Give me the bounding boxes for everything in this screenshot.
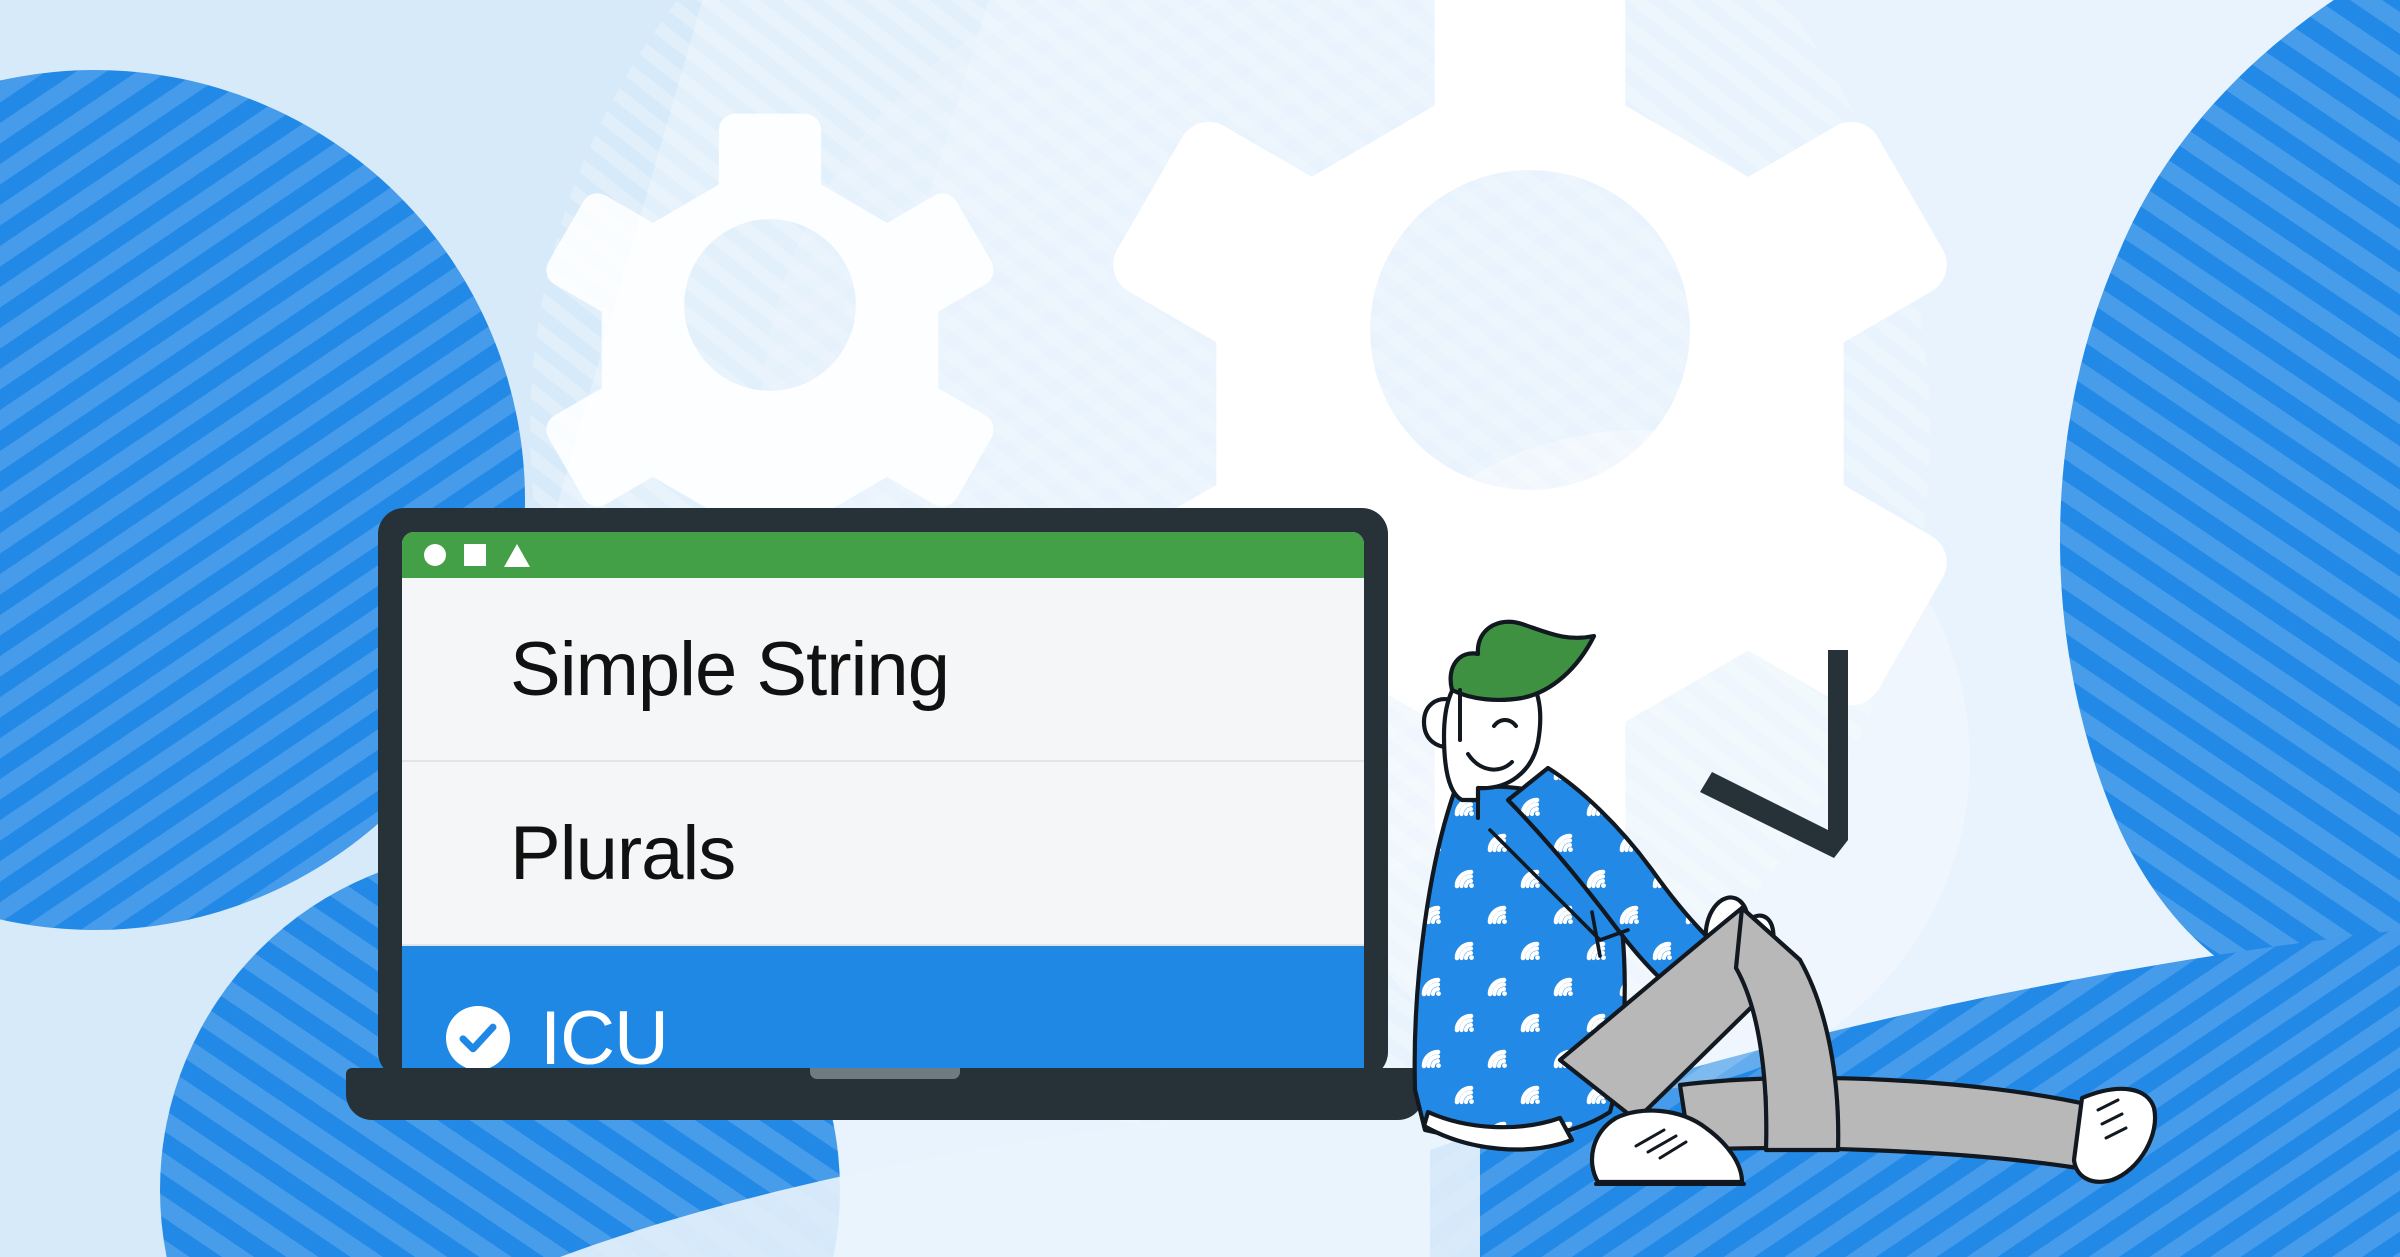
window-titlebar — [402, 532, 1364, 578]
laptop-screen: Simple String Plurals ICU — [402, 532, 1364, 1078]
illustration-canvas: Simple String Plurals ICU — [0, 0, 2400, 1257]
laptop-base-notch — [810, 1068, 960, 1079]
check-circle-icon — [446, 1006, 510, 1070]
list-item-icu[interactable]: ICU — [402, 946, 1364, 1078]
list-item-label: Plurals — [510, 810, 735, 897]
triangle-control-icon[interactable] — [504, 544, 530, 567]
laptop-device: Simple String Plurals ICU — [378, 508, 1428, 1108]
list-item-simple-string[interactable]: Simple String — [402, 578, 1364, 762]
laptop-base — [346, 1068, 1424, 1120]
format-options-list: Simple String Plurals ICU — [402, 578, 1364, 1078]
laptop-lid: Simple String Plurals ICU — [378, 508, 1388, 1078]
list-item-label: Simple String — [510, 626, 949, 713]
list-item-plurals[interactable]: Plurals — [402, 762, 1364, 946]
list-item-label: ICU — [540, 995, 668, 1079]
circle-control-icon[interactable] — [424, 544, 446, 566]
square-control-icon[interactable] — [464, 544, 486, 566]
